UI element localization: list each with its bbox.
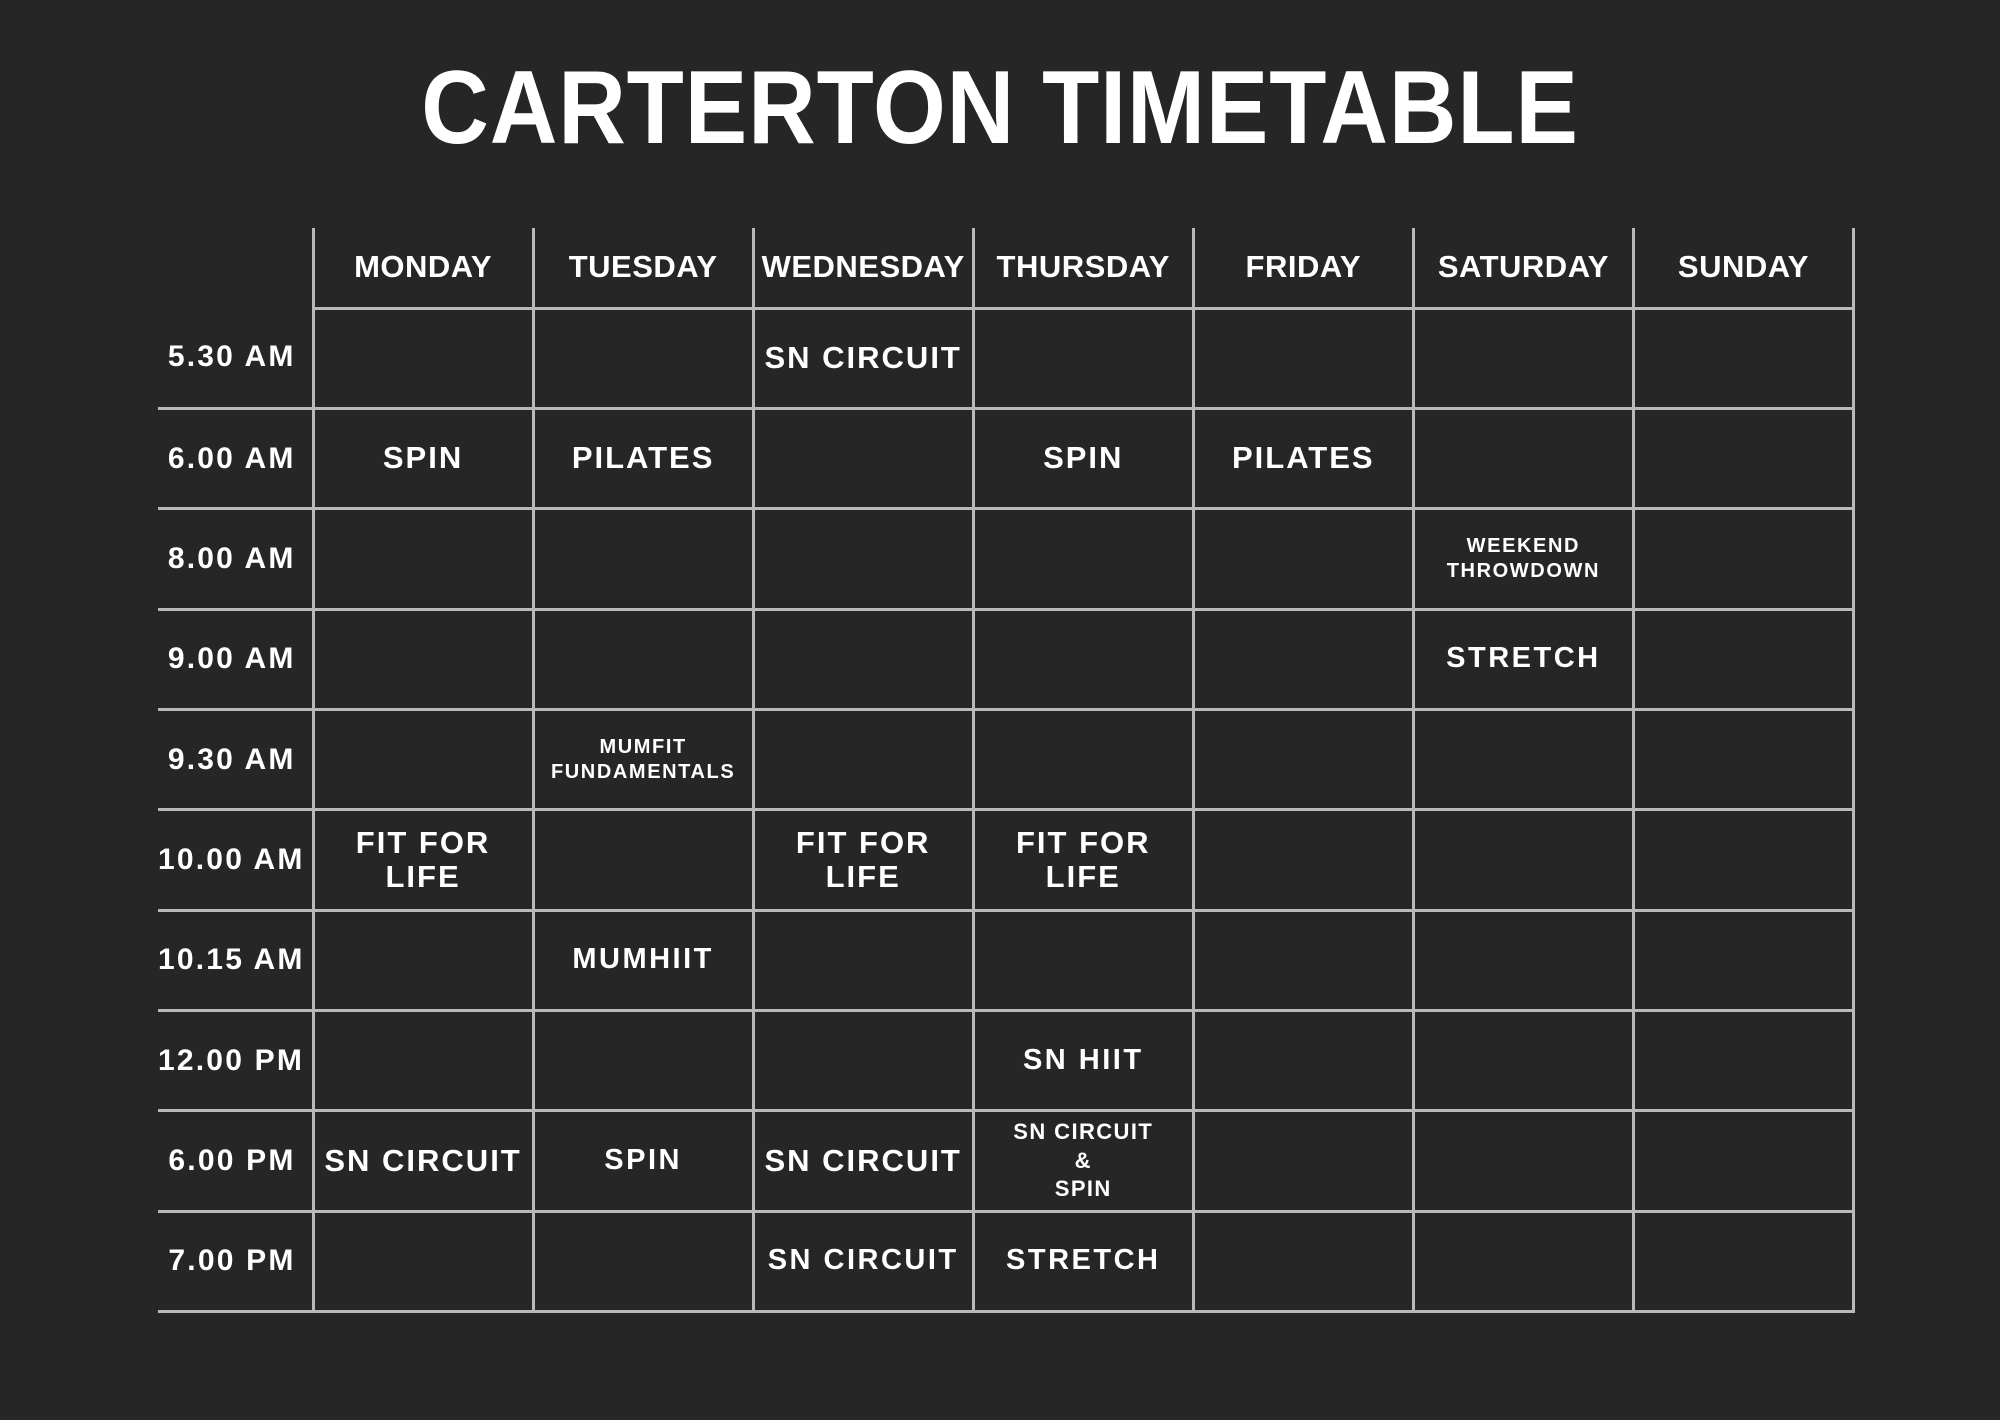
class-cell[interactable] bbox=[1193, 1111, 1413, 1211]
class-entry-line: STRETCH bbox=[1421, 643, 1626, 675]
table-row: 7.00 PM SN CIRCUIT STRETCH bbox=[158, 1211, 1854, 1311]
class-cell[interactable] bbox=[1633, 1111, 1853, 1211]
class-cell[interactable] bbox=[753, 509, 973, 609]
time-cell: 10.15 AM bbox=[158, 910, 313, 1010]
class-entry: SN CIRCUIT & SPIN bbox=[975, 1118, 1192, 1204]
class-cell[interactable] bbox=[533, 810, 753, 910]
table-row: 9.30 AM MUMFIT FUNDAMENTALS bbox=[158, 709, 1854, 809]
day-header-monday: MONDAY bbox=[313, 228, 533, 308]
class-cell[interactable] bbox=[1413, 1211, 1633, 1311]
table-row: 6.00 PM SN CIRCUIT SPIN SN bbox=[158, 1111, 1854, 1211]
time-cell: 10.00 AM bbox=[158, 810, 313, 910]
class-cell[interactable] bbox=[1633, 709, 1853, 809]
class-cell[interactable] bbox=[313, 709, 533, 809]
class-cell[interactable] bbox=[1413, 308, 1633, 408]
class-entry-line: SPIN bbox=[981, 441, 1186, 475]
class-entry-line: STRETCH bbox=[981, 1245, 1186, 1277]
class-entry-line: FUNDAMENTALS bbox=[541, 760, 746, 784]
class-entry-line: FIT FOR bbox=[981, 826, 1186, 860]
class-cell[interactable] bbox=[1633, 1010, 1853, 1110]
class-cell[interactable]: SPIN bbox=[973, 408, 1193, 508]
time-label: 9.30 AM bbox=[158, 743, 312, 777]
class-cell[interactable] bbox=[313, 609, 533, 709]
class-entry-line: LIFE bbox=[321, 860, 526, 894]
class-cell[interactable] bbox=[1193, 509, 1413, 609]
class-entry: SN CIRCUIT bbox=[755, 1245, 972, 1277]
class-entry-line: & bbox=[981, 1147, 1186, 1176]
table-row: 8.00 AM WEEKEND THROWDOWN bbox=[158, 509, 1854, 609]
time-label: 6.00 AM bbox=[158, 442, 312, 476]
class-cell[interactable] bbox=[753, 709, 973, 809]
class-cell[interactable] bbox=[313, 1211, 533, 1311]
class-cell[interactable]: FIT FOR LIFE bbox=[313, 810, 533, 910]
class-cell[interactable] bbox=[973, 709, 1193, 809]
class-cell[interactable] bbox=[1193, 1010, 1413, 1110]
class-cell[interactable] bbox=[973, 609, 1193, 709]
class-cell[interactable] bbox=[1633, 1211, 1853, 1311]
table-row: 10.00 AM FIT FOR LIFE FIT FOR LIFE bbox=[158, 810, 1854, 910]
class-entry-line: FIT FOR bbox=[761, 826, 966, 860]
class-cell[interactable] bbox=[313, 910, 533, 1010]
class-entry: SPIN bbox=[315, 441, 532, 475]
timetable-table: MONDAY TUESDAY WEDNESDAY THURSDAY FRIDAY… bbox=[158, 228, 1855, 1313]
class-cell[interactable] bbox=[753, 1010, 973, 1110]
class-entry-line: PILATES bbox=[541, 441, 746, 475]
table-row: 10.15 AM MUMHIIT bbox=[158, 910, 1854, 1010]
header-corner-cell bbox=[158, 228, 313, 308]
time-cell: 7.00 PM bbox=[158, 1211, 313, 1311]
class-cell[interactable]: SPIN bbox=[313, 408, 533, 508]
class-cell[interactable] bbox=[753, 910, 973, 1010]
time-label: 6.00 PM bbox=[158, 1144, 312, 1178]
class-cell[interactable]: SN CIRCUIT bbox=[753, 308, 973, 408]
class-cell[interactable] bbox=[313, 308, 533, 408]
day-header-thursday: THURSDAY bbox=[973, 228, 1193, 308]
class-entry: SN HIIT bbox=[975, 1045, 1192, 1077]
class-cell[interactable] bbox=[533, 609, 753, 709]
table-header-row: MONDAY TUESDAY WEDNESDAY THURSDAY FRIDAY… bbox=[158, 228, 1854, 308]
class-entry: FIT FOR LIFE bbox=[755, 826, 972, 894]
class-cell[interactable] bbox=[1413, 810, 1633, 910]
day-header-sunday: SUNDAY bbox=[1633, 228, 1853, 308]
class-cell[interactable]: MUMHIIT bbox=[533, 910, 753, 1010]
class-cell[interactable] bbox=[533, 308, 753, 408]
table-row: 12.00 PM SN HIIT bbox=[158, 1010, 1854, 1110]
class-entry: PILATES bbox=[1195, 441, 1412, 475]
class-cell[interactable] bbox=[973, 910, 1193, 1010]
class-cell[interactable]: SN HIIT bbox=[973, 1010, 1193, 1110]
class-entry-line: FIT FOR bbox=[321, 826, 526, 860]
class-cell[interactable] bbox=[1193, 1211, 1413, 1311]
class-entry-line: MUMHIIT bbox=[541, 944, 746, 976]
class-cell[interactable]: SN CIRCUIT & SPIN bbox=[973, 1111, 1193, 1211]
time-label: 10.00 AM bbox=[158, 843, 312, 877]
class-cell[interactable]: FIT FOR LIFE bbox=[753, 810, 973, 910]
class-cell[interactable] bbox=[1633, 509, 1853, 609]
class-entry: STRETCH bbox=[1415, 643, 1632, 675]
class-entry-line: SPIN bbox=[981, 1175, 1186, 1204]
class-entry: SPIN bbox=[975, 441, 1192, 475]
table-row: 9.00 AM STRETCH bbox=[158, 609, 1854, 709]
class-cell[interactable] bbox=[1633, 810, 1853, 910]
time-label: 8.00 AM bbox=[158, 542, 312, 576]
class-cell[interactable]: PILATES bbox=[1193, 408, 1413, 508]
class-cell[interactable] bbox=[1633, 910, 1853, 1010]
class-cell[interactable] bbox=[1193, 810, 1413, 910]
timetable-page: CARTERTON TIMETABLE MONDAY TUESDAY WEDNE… bbox=[0, 0, 2000, 1420]
time-cell: 6.00 AM bbox=[158, 408, 313, 508]
class-entry-line: PILATES bbox=[1201, 441, 1406, 475]
class-cell[interactable] bbox=[1413, 1111, 1633, 1211]
class-entry-line: LIFE bbox=[981, 860, 1186, 894]
class-cell[interactable]: MUMFIT FUNDAMENTALS bbox=[533, 709, 753, 809]
class-cell[interactable] bbox=[973, 509, 1193, 609]
class-cell[interactable] bbox=[1413, 408, 1633, 508]
class-entry-line: LIFE bbox=[761, 860, 966, 894]
class-cell[interactable] bbox=[533, 509, 753, 609]
class-cell[interactable]: SN CIRCUIT bbox=[753, 1111, 973, 1211]
time-label: 9.00 AM bbox=[158, 642, 312, 676]
class-cell[interactable] bbox=[1193, 308, 1413, 408]
class-entry: STRETCH bbox=[975, 1245, 1192, 1277]
day-header-wednesday: WEDNESDAY bbox=[753, 228, 973, 308]
class-entry: WEEKEND THROWDOWN bbox=[1415, 534, 1632, 583]
day-header-saturday: SATURDAY bbox=[1413, 228, 1633, 308]
day-header-friday: FRIDAY bbox=[1193, 228, 1413, 308]
class-entry: SN CIRCUIT bbox=[755, 1144, 972, 1178]
class-cell[interactable] bbox=[973, 308, 1193, 408]
class-cell[interactable] bbox=[1633, 609, 1853, 709]
class-cell[interactable] bbox=[313, 509, 533, 609]
class-cell[interactable] bbox=[1413, 709, 1633, 809]
class-entry-line: SN CIRCUIT bbox=[761, 341, 966, 375]
page-title: CARTERTON TIMETABLE bbox=[100, 56, 1900, 160]
class-entry-line: SPIN bbox=[541, 1145, 746, 1177]
class-entry-line: SN HIIT bbox=[981, 1045, 1186, 1077]
time-cell: 9.30 AM bbox=[158, 709, 313, 809]
time-label: 10.15 AM bbox=[158, 943, 312, 977]
class-cell[interactable]: SN CIRCUIT bbox=[313, 1111, 533, 1211]
class-cell[interactable] bbox=[753, 609, 973, 709]
class-entry-line: WEEKEND bbox=[1421, 534, 1626, 558]
class-entry: MUMHIIT bbox=[535, 944, 752, 976]
class-cell[interactable]: STRETCH bbox=[973, 1211, 1193, 1311]
class-entry: PILATES bbox=[535, 441, 752, 475]
class-cell[interactable]: STRETCH bbox=[1413, 609, 1633, 709]
class-cell[interactable]: SPIN bbox=[533, 1111, 753, 1211]
class-entry-line: SN CIRCUIT bbox=[761, 1144, 966, 1178]
class-entry-line: SN CIRCUIT bbox=[981, 1118, 1186, 1147]
time-cell: 9.00 AM bbox=[158, 609, 313, 709]
class-cell[interactable] bbox=[753, 408, 973, 508]
class-entry: FIT FOR LIFE bbox=[315, 826, 532, 894]
class-cell[interactable]: WEEKEND THROWDOWN bbox=[1413, 509, 1633, 609]
class-cell[interactable] bbox=[1193, 709, 1413, 809]
class-cell[interactable]: FIT FOR LIFE bbox=[973, 810, 1193, 910]
class-entry-line: SPIN bbox=[321, 441, 526, 475]
class-entry-line: SN CIRCUIT bbox=[321, 1144, 526, 1178]
time-cell: 8.00 AM bbox=[158, 509, 313, 609]
time-cell: 5.30 AM bbox=[158, 308, 313, 408]
table-row: 6.00 AM SPIN PILATES bbox=[158, 408, 1854, 508]
time-label: 7.00 PM bbox=[158, 1244, 312, 1278]
day-header-tuesday: TUESDAY bbox=[533, 228, 753, 308]
class-cell[interactable] bbox=[1633, 408, 1853, 508]
class-entry-line: SN CIRCUIT bbox=[761, 1245, 966, 1277]
class-cell[interactable] bbox=[1413, 910, 1633, 1010]
class-cell[interactable] bbox=[1193, 609, 1413, 709]
timetable-grid: MONDAY TUESDAY WEDNESDAY THURSDAY FRIDAY… bbox=[158, 228, 1855, 1313]
class-cell[interactable]: PILATES bbox=[533, 408, 753, 508]
class-entry-line: THROWDOWN bbox=[1421, 559, 1626, 583]
time-cell: 6.00 PM bbox=[158, 1111, 313, 1211]
class-entry: SN CIRCUIT bbox=[315, 1144, 532, 1178]
class-cell[interactable] bbox=[1193, 910, 1413, 1010]
class-entry: FIT FOR LIFE bbox=[975, 826, 1192, 894]
class-cell[interactable] bbox=[533, 1010, 753, 1110]
class-entry: SN CIRCUIT bbox=[755, 341, 972, 375]
class-cell[interactable] bbox=[313, 1010, 533, 1110]
class-entry: SPIN bbox=[535, 1145, 752, 1177]
class-cell[interactable] bbox=[1413, 1010, 1633, 1110]
class-cell[interactable]: SN CIRCUIT bbox=[753, 1211, 973, 1311]
time-label: 5.30 AM bbox=[158, 340, 312, 374]
table-body: 5.30 AM SN CIRCUIT bbox=[158, 308, 1854, 1312]
time-label: 12.00 PM bbox=[158, 1044, 312, 1078]
class-cell[interactable] bbox=[1633, 308, 1853, 408]
table-row: 5.30 AM SN CIRCUIT bbox=[158, 308, 1854, 408]
class-cell[interactable] bbox=[533, 1211, 753, 1311]
class-entry-line: MUMFIT bbox=[541, 735, 746, 759]
class-entry: MUMFIT FUNDAMENTALS bbox=[535, 735, 752, 784]
time-cell: 12.00 PM bbox=[158, 1010, 313, 1110]
